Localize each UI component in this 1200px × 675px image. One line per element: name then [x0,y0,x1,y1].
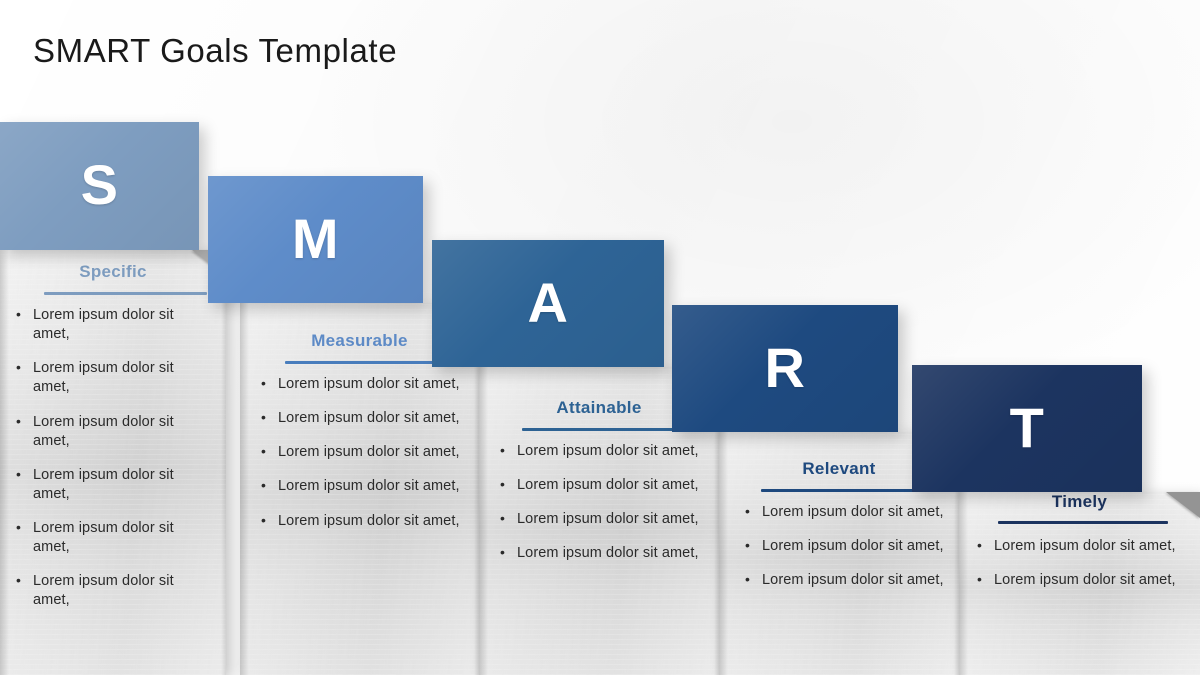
list-item: Lorem ipsum dolor sit amet, [496,442,704,461]
panel-left-edge [240,303,249,675]
list-item: Lorem ipsum dolor sit amet, [257,512,465,531]
letter-block-m: M [208,176,423,303]
card-heading-rule-relevant [761,489,931,492]
card-heading-rule-measurable [285,361,455,364]
list-item: Lorem ipsum dolor sit amet, [12,466,212,504]
card-body-timely: Timely Lorem ipsum dolor sit amet, Lorem… [959,492,1200,675]
list-item: Lorem ipsum dolor sit amet, [12,359,212,397]
letter-block-t: T [912,365,1142,492]
list-item: Lorem ipsum dolor sit amet, [257,477,465,496]
card-bullets-measurable: Lorem ipsum dolor sit amet, Lorem ipsum … [257,375,465,546]
list-item: Lorem ipsum dolor sit amet, [496,476,704,495]
card-body-specific: Specific Lorem ipsum dolor sit amet, Lor… [0,250,226,675]
list-item: Lorem ipsum dolor sit amet, [496,544,704,563]
letter-glyph-r: R [765,340,806,396]
list-item: Lorem ipsum dolor sit amet, [12,519,212,557]
card-heading-rule-timely [998,521,1168,524]
letter-glyph-t: T [1010,400,1045,456]
slide-canvas: SMART Goals Template Specific Lorem ipsu… [0,0,1200,675]
list-item: Lorem ipsum dolor sit amet, [257,443,465,462]
page-fold-corner-timely [1166,492,1200,518]
list-item: Lorem ipsum dolor sit amet, [973,571,1185,590]
panel-right-edge [221,250,226,675]
card-heading-rule-attainable [522,428,692,431]
letter-glyph-m: M [292,211,339,267]
list-item: Lorem ipsum dolor sit amet, [12,413,212,451]
letter-glyph-s: S [81,157,119,213]
list-item: Lorem ipsum dolor sit amet, [257,375,465,394]
card-heading-timely: Timely [959,492,1200,512]
page-title: SMART Goals Template [33,32,397,70]
list-item: Lorem ipsum dolor sit amet, [257,409,465,428]
letter-block-s: S [0,122,199,250]
panel-left-edge [0,250,9,675]
card-heading-rule-specific [44,292,207,295]
letter-block-a: A [432,240,664,367]
card-bullets-attainable: Lorem ipsum dolor sit amet, Lorem ipsum … [496,442,704,579]
card-bullets-relevant: Lorem ipsum dolor sit amet, Lorem ipsum … [741,503,946,605]
card-bullets-specific: Lorem ipsum dolor sit amet, Lorem ipsum … [12,306,212,626]
letter-glyph-a: A [528,275,569,331]
list-item: Lorem ipsum dolor sit amet, [496,510,704,529]
list-item: Lorem ipsum dolor sit amet, [741,571,946,590]
letter-block-r: R [672,305,898,432]
card-bullets-timely: Lorem ipsum dolor sit amet, Lorem ipsum … [973,537,1185,605]
list-item: Lorem ipsum dolor sit amet, [12,306,212,344]
list-item: Lorem ipsum dolor sit amet, [12,572,212,610]
list-item: Lorem ipsum dolor sit amet, [973,537,1185,556]
list-item: Lorem ipsum dolor sit amet, [741,537,946,556]
list-item: Lorem ipsum dolor sit amet, [741,503,946,522]
panel-left-edge [959,492,968,675]
